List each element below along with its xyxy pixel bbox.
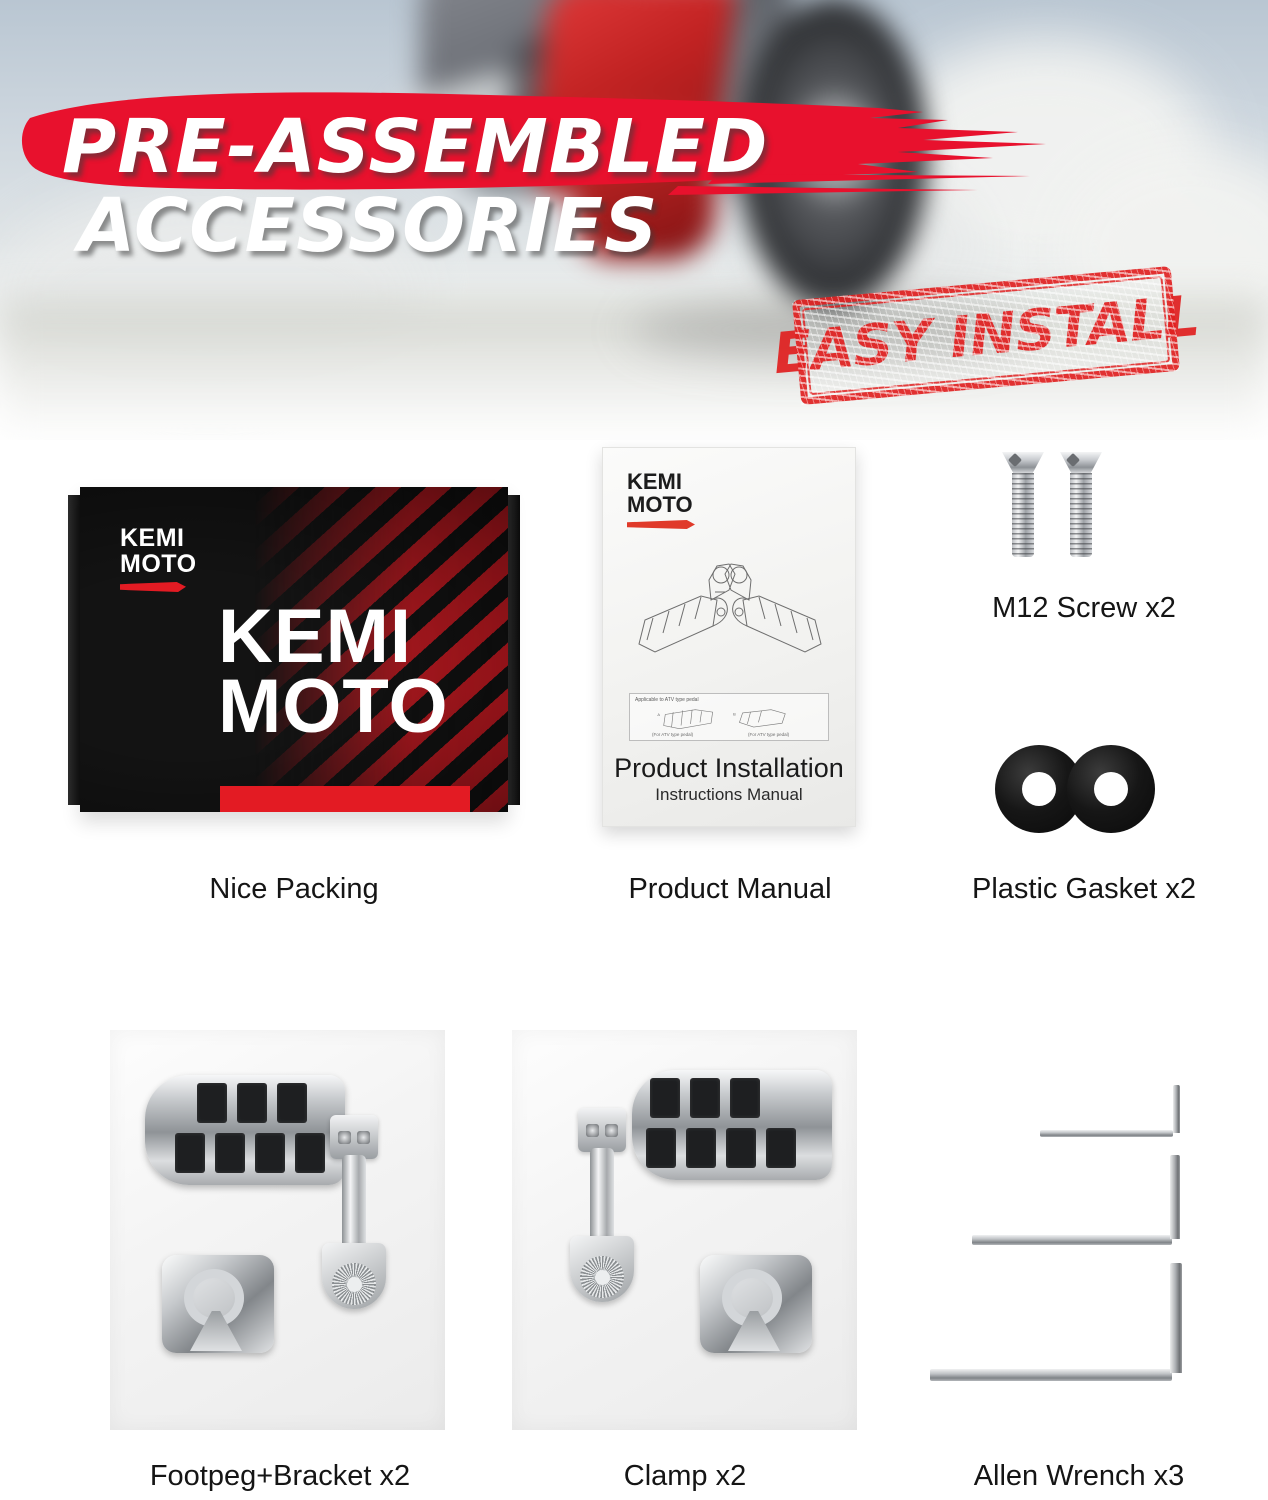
box-big-line-2: MOTO — [218, 672, 449, 742]
manual-logo-line-1: KEMI — [627, 470, 695, 493]
bracket-head — [330, 1115, 378, 1159]
footpeg-body — [632, 1070, 832, 1180]
manual-note-diagram: A B — [632, 705, 828, 735]
box-front-face: KEMI MOTO KEMI MOTO — [80, 487, 508, 812]
footpeg-rubber-insert — [215, 1133, 245, 1173]
caption-product-manual: Product Manual — [580, 873, 880, 906]
bracket-arm — [322, 1115, 386, 1310]
clamp-body — [162, 1255, 274, 1353]
screw-threaded-shaft — [1070, 473, 1092, 557]
allen-wrench-large — [930, 1263, 1182, 1381]
box-brand-logo: KEMI MOTO — [120, 525, 197, 592]
manual-subtitle: Instructions Manual — [603, 785, 855, 805]
box-big-wordmark: KEMI MOTO — [218, 602, 449, 742]
clamp-body — [700, 1255, 812, 1353]
footpeg-rubber-insert — [295, 1133, 325, 1173]
bracket-bolt — [357, 1131, 370, 1144]
screw-threaded-shaft — [1012, 473, 1034, 557]
caption-m12-screw: M12 Screw x2 — [900, 592, 1268, 625]
footpeg-rubber-insert — [766, 1128, 796, 1168]
bracket-bolt — [338, 1131, 351, 1144]
bracket-spline-disc — [580, 1256, 624, 1298]
allen-wrench-medium — [972, 1155, 1180, 1245]
headline-block: PRE-ASSEMBLED ACCESSORIES — [0, 88, 1268, 278]
screw-item — [1010, 452, 1036, 557]
caption-clamp: Clamp x2 — [500, 1460, 870, 1493]
manual-brand-logo: KEMI MOTO — [627, 470, 695, 529]
screw-head — [1060, 452, 1102, 474]
box-logo-line-1: KEMI — [120, 525, 197, 551]
nice-packing-photo: KEMI MOTO KEMI MOTO — [68, 487, 520, 812]
headline-line-2: ACCESSORIES — [78, 183, 658, 269]
footpeg-rubber-insert — [726, 1128, 756, 1168]
wrench-short-arm — [1173, 1085, 1180, 1133]
bracket-bolt — [586, 1124, 599, 1137]
footpeg-bracket-photo — [110, 1030, 445, 1430]
screw-drive-slot — [1008, 453, 1022, 467]
caption-allen-wrench: Allen Wrench x3 — [890, 1460, 1268, 1493]
manual-note-box: Applicable to ATV type pedal A B (For AT… — [629, 693, 829, 741]
footpeg-rubber-insert — [650, 1078, 680, 1118]
box-logo-swoosh — [120, 582, 186, 592]
footpeg-rubber-insert — [646, 1128, 676, 1168]
caption-nice-packing: Nice Packing — [68, 873, 520, 906]
footpeg-rubber-insert — [197, 1083, 227, 1123]
screw-drive-slot — [1066, 453, 1080, 467]
box-red-bar — [220, 786, 470, 812]
manual-logo-swoosh — [627, 520, 695, 529]
svg-text:A: A — [657, 712, 660, 717]
plastic-gasket-photo — [995, 745, 1155, 833]
manual-cover-page: KEMI MOTO — [602, 447, 856, 827]
m12-screw-photo — [1010, 452, 1120, 562]
wrench-long-arm — [972, 1235, 1172, 1245]
svg-text:B: B — [733, 711, 736, 716]
footpeg-body — [145, 1075, 345, 1185]
manual-footpeg-line-art — [625, 548, 835, 678]
footpeg-rubber-insert — [175, 1133, 205, 1173]
footpeg-rubber-insert — [686, 1128, 716, 1168]
product-manual-photo: KEMI MOTO — [602, 447, 856, 827]
box-big-line-1: KEMI — [218, 602, 449, 672]
caption-plastic-gasket: Plastic Gasket x2 — [900, 873, 1268, 906]
bracket-arm — [570, 1108, 634, 1303]
box-logo-line-2: MOTO — [120, 551, 197, 577]
wrench-long-arm — [1040, 1130, 1173, 1137]
box-right-edge — [506, 495, 520, 805]
footpeg-rubber-insert — [277, 1083, 307, 1123]
manual-note-caption-a: (For ATV type pedal) — [652, 732, 693, 737]
manual-note-heading: Applicable to ATV type pedal — [635, 697, 699, 703]
footpeg-rubber-insert — [730, 1078, 760, 1118]
footpeg-rubber-insert — [237, 1083, 267, 1123]
wrench-short-arm — [1170, 1263, 1182, 1373]
caption-footpeg-bracket: Footpeg+Bracket x2 — [70, 1460, 490, 1493]
bracket-foot — [322, 1243, 386, 1309]
clamp-photo — [512, 1030, 857, 1430]
bracket-head — [578, 1108, 626, 1152]
screw-item — [1068, 452, 1094, 557]
manual-note-caption-b: (For ATV type pedal) — [748, 732, 789, 737]
manual-title: Product Installation — [603, 753, 855, 784]
wrench-short-arm — [1170, 1155, 1180, 1239]
bracket-bolt — [605, 1124, 618, 1137]
screw-head — [1002, 452, 1044, 474]
allen-wrench-small — [1040, 1085, 1180, 1137]
bracket-foot — [570, 1236, 634, 1302]
footpeg-rubber-insert — [690, 1078, 720, 1118]
headline-line-1: PRE-ASSEMBLED — [62, 104, 768, 190]
bracket-spline-disc — [332, 1263, 376, 1305]
allen-wrench-photo — [930, 1085, 1230, 1385]
manual-logo-line-2: MOTO — [627, 493, 695, 516]
wrench-long-arm — [930, 1369, 1172, 1381]
gasket-item — [1067, 745, 1155, 833]
footpeg-rubber-insert — [255, 1133, 285, 1173]
